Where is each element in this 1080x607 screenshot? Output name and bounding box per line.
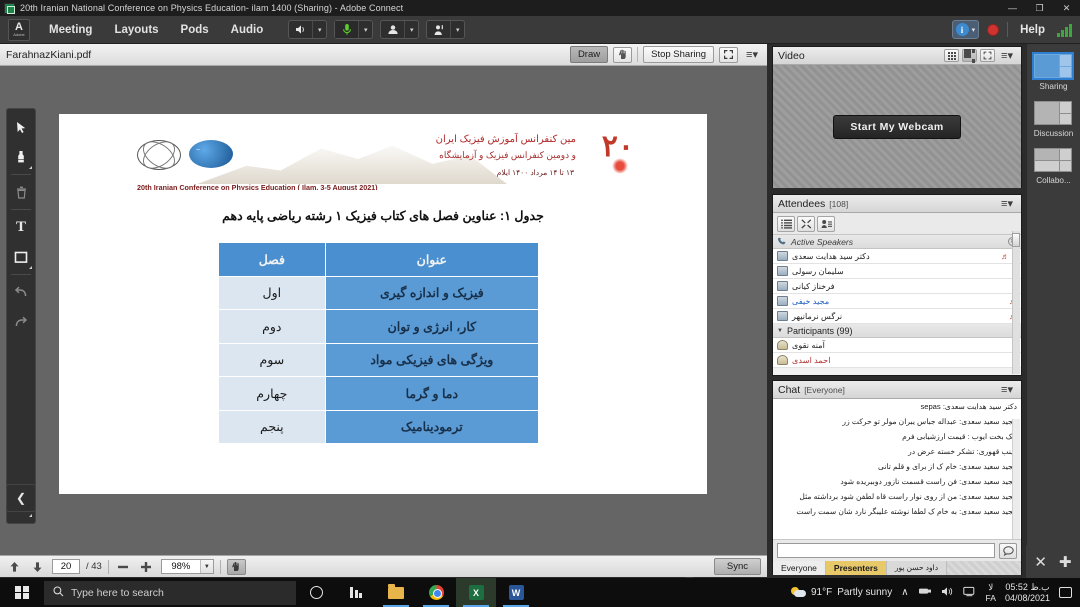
drawing-toolbar: T [6,108,36,524]
chat-message: نیک بخت ایوب : قیمت ارزشیابی فرم [777,432,1017,441]
participants-caret-icon[interactable]: ▼ [777,328,783,334]
chat-scrollbar[interactable] [1012,419,1020,539]
adobe-logo-word: Adobe [13,32,25,37]
language-line-1: لا [986,582,996,593]
video-grid-view-icon[interactable] [944,49,959,62]
cell-chapter: دوم [219,310,326,344]
chat-message: مجید سعید سعدی: من از روی نوار راست قاه … [777,492,1017,501]
record-icon[interactable] [987,24,999,36]
attendees-pod-menu-icon[interactable]: ≡▾ [998,197,1016,210]
start-my-webcam-button[interactable]: Start My Webcam [833,115,960,139]
list-view-icon[interactable] [777,216,795,232]
volume-icon[interactable] [941,586,954,600]
toolbar-divider [11,209,31,210]
stop-sharing-button[interactable]: Stop Sharing [643,46,714,63]
shape-tool-icon[interactable] [7,242,35,272]
minimize-button[interactable]: — [999,0,1026,16]
windows-logo-icon [15,586,29,600]
table-header-row: عنوان فصل [219,243,539,277]
clock[interactable]: 05:52 ب.ظ 04/08/2021 [1005,582,1050,604]
raise-hand-control-group[interactable]: ▾ [426,20,465,39]
meeting-caret-icon[interactable]: ▾ [972,26,976,34]
zoom-out-button[interactable] [115,559,132,575]
speaker-icon[interactable] [289,21,312,38]
chapter-table: عنوان فصل فیزیک و اندازه گیری اول کار، ا… [218,242,539,444]
speaker-caret-icon[interactable]: ▾ [312,21,326,38]
breakout-rooms-icon[interactable] [797,216,815,232]
attendee-info-icon[interactable] [817,216,835,232]
active-speakers-group-header[interactable]: Active Speakers ✕ [773,235,1021,249]
attendee-status-icon [777,296,788,306]
video-pod-title: Video [778,50,805,62]
participants-group-header[interactable]: ▼ Participants (99) [773,324,1021,338]
word-glyph: W [509,585,524,600]
excel-icon[interactable]: X [456,578,496,607]
layout-item-discussion[interactable]: Discussion [1032,99,1076,138]
redo-tool-icon[interactable] [7,307,35,337]
zoom-in-button[interactable] [138,559,155,575]
pdfbar-divider [108,560,109,574]
banner-persian-line-1: مین کنفرانس آموزش فیزیک ایران [436,134,576,145]
shape-options-caret-icon[interactable] [29,266,32,269]
banner-burst-icon [612,158,628,174]
chat-pod: Chat [Everyone] ≡▾ دکتر سید هدایت سعدی: … [772,380,1022,575]
table-row: ویژگی های فیزیکی مواد سوم [219,343,539,377]
cell-chapter: پنجم [219,410,326,444]
banner-persian-line-2: و دومین کنفرانس فیزیک و آزمایشگاه [439,150,576,161]
word-icon[interactable]: W [496,578,536,607]
language-indicator[interactable]: لا FA [986,582,996,604]
chat-tab-bar: Everyone Presenters داود حسن پور [773,561,1021,575]
tab-everyone[interactable]: Everyone [773,561,826,575]
participants-label: Participants (99) [787,326,853,336]
attendees-count: [108] [829,199,848,209]
discussion-layout-thumbnail [1032,99,1074,127]
previous-page-button[interactable] [6,559,23,575]
search-icon [53,586,64,600]
chrome-icon[interactable] [416,578,456,607]
info-icon: i [956,23,969,36]
adobe-logo-letter: A [15,23,23,32]
banner-persian-date: ۱۳ تا ۱۴ مرداد ۱۴۰۰ ایلام [497,168,574,177]
layout-item-sharing[interactable]: Sharing [1032,52,1076,91]
attendees-pod-header: Attendees [108] ≡▾ [773,195,1021,213]
chat-scope-label: [Everyone] [804,385,845,395]
video-pod-header: Video ≡▾ [773,47,1021,65]
video-pod-menu-icon[interactable]: ≡▾ [998,49,1016,62]
table-row: کار، انرژی و توان دوم [219,310,539,344]
layout-rail-actions: ✕ ✚ [1026,545,1080,578]
table-row: فیزیک و اندازه گیری اول [219,276,539,310]
start-button[interactable] [0,578,44,607]
cell-title: ترمودینامیک [325,410,538,444]
tab-private-chat[interactable]: داود حسن پور [887,561,947,575]
video-filmstrip-view-icon[interactable] [962,49,977,62]
video-fullscreen-icon[interactable] [980,49,995,62]
chat-message: زینب قهوری: تشکر خسته عرض در [777,447,1017,456]
attendees-scrollbar[interactable] [1012,231,1020,374]
header-chapter: فصل [219,243,326,277]
chat-pod-title: Chat [778,384,800,396]
toolbar-divider [11,274,31,275]
sharing-layout-thumbnail [1032,52,1074,80]
layout-item-collaboration[interactable]: Collabo... [1032,146,1076,185]
table-row: ترمودینامیک پنجم [219,410,539,444]
page-number-input[interactable]: 20 [52,559,80,574]
send-message-icon[interactable] [999,543,1017,559]
maximize-button[interactable]: ❐ [1026,0,1053,16]
table-row: دما و گرما چهارم [219,377,539,411]
attendee-status-icon [777,311,788,321]
next-page-button[interactable] [29,559,46,575]
menubar-divider [1007,22,1008,37]
chat-message: مجید سعید سعدی: فن راست قسمت نازور دوببر… [777,477,1017,486]
zoom-caret-icon[interactable]: ▼ [200,560,213,573]
weather-temperature: 91°F [811,587,832,598]
layout-label: Sharing [1032,82,1076,91]
table-caption: جدول ۱: عناوین فصل های کتاب فیزیک ۱ رشته… [59,208,707,223]
language-line-2: FA [986,593,996,604]
chat-message: مجید سعید سعدی: به خام ک لطفا نوشته علیب… [777,507,1017,516]
conference-banner: ~ مین کنفرانس آموزش فیزیک ایران و دومین … [137,132,632,190]
camera-icon[interactable] [381,21,404,38]
weather-widget[interactable]: 91°F Partly sunny [791,587,892,598]
pdf-navigation-bar: 20 / 43 98% ▼ Sync [0,555,767,577]
clock-date: 04/08/2021 [1005,593,1050,604]
active-speakers-phone-icon [777,233,787,251]
microphone-icon[interactable] [335,21,358,38]
collapse-toolbar-button[interactable]: ❮ [6,484,36,512]
chat-message-list[interactable]: دکتر سید هدایت سعدی: sepas مجید سعید سعد… [773,399,1021,539]
search-input[interactable]: Type here to search [44,581,296,605]
list-item[interactable]: دکتر سید هدایت سعدی ♬ ● [773,249,1021,264]
cell-title: دما و گرما [325,377,538,411]
chat-pod-menu-icon[interactable]: ≡▾ [998,383,1016,396]
speaker-control-group[interactable]: ▾ [288,20,327,39]
marker-options-caret-icon[interactable] [29,166,32,169]
pointer-tool-icon[interactable] [7,112,35,142]
cell-chapter: چهارم [219,377,326,411]
attendee-name: دکتر سید هدایت سعدی [792,251,870,261]
toolbar-spacer [7,337,35,485]
hand-tool-button[interactable] [227,559,246,575]
microphone-caret-icon[interactable]: ▾ [358,21,372,38]
cell-chapter: سوم [219,343,326,377]
share-tools-divider [637,47,638,62]
clock-time: 05:52 ب.ظ [1005,582,1050,593]
share-pod-body: ~ مین کنفرانس آموزش فیزیک ایران و دومین … [0,66,767,555]
app-icon [4,3,15,14]
meeting-info-button[interactable]: i ▾ [952,20,980,39]
file-explorer-icon[interactable] [376,578,416,607]
menu-audio[interactable]: Audio [220,16,275,44]
attendee-name: نرگس نرمانیهر [792,311,842,321]
attendee-name: احمد اسدی [792,355,830,365]
menu-meeting[interactable]: Meeting [38,16,103,44]
chat-message: دکتر سید هدایت سعدی: sepas [777,402,1017,411]
list-item[interactable]: نرگس نرمانیهر ♬ [773,309,1021,324]
layout-label: Collabo... [1032,176,1076,185]
add-layout-icon[interactable]: ✚ [1059,553,1072,571]
attendee-name: آمنه نقوی [792,340,825,350]
share-pod-menu-icon[interactable]: ≡▾ [743,48,761,61]
university-logo-icon: ~ [189,140,233,168]
chat-message: مجید سعید سعدی: عبداله جباس یبران مولر ت… [777,417,1017,426]
pointer-button[interactable] [613,47,632,63]
cell-chapter: اول [219,276,326,310]
excel-glyph: X [469,585,484,600]
microphone-muted-icon[interactable]: ♬ [1001,252,1009,261]
zoom-level-value: 98% [162,561,200,572]
banner-english-line: 20th Iranian Conference on Physics Educa… [137,183,378,190]
microphone-control-group[interactable]: ▾ [334,20,373,39]
fullscreen-icon[interactable] [719,47,738,63]
window-title: 20th Iranian National Conference on Phys… [20,3,403,13]
undo-tool-icon[interactable] [7,277,35,307]
delete-tool-icon[interactable] [7,177,35,207]
adobe-logo-icon: A Adobe [8,19,30,41]
participant-icon [777,340,788,350]
close-button[interactable]: ✕ [1053,0,1080,16]
search-placeholder: Type here to search [71,587,164,599]
tab-presenters[interactable]: Presenters [826,561,887,575]
attendees-pod: Attendees [108] ≡▾ Active Speakers ✕ [772,194,1022,376]
attendee-name: فرخناز کیانی [792,281,835,291]
list-item[interactable]: سلیمان رسولی [773,264,1021,279]
camera-control-group[interactable]: ▾ [380,20,419,39]
list-item[interactable]: فرخناز کیانی [773,279,1021,294]
zoom-level-select[interactable]: 98% ▼ [161,559,214,574]
close-layout-icon[interactable]: ✕ [1034,553,1047,571]
sync-button[interactable]: Sync [714,558,761,575]
windows-taskbar: Type here to search X W 91°F Partly sunn… [0,578,1080,607]
layers-options-caret-icon[interactable] [29,514,32,517]
usb-icon[interactable] [918,586,932,599]
partly-sunny-icon [791,587,806,598]
menu-layouts[interactable]: Layouts [103,16,169,44]
camera-caret-icon[interactable]: ▾ [404,21,418,38]
raise-hand-caret-icon[interactable]: ▾ [450,21,464,38]
video-pod-body: Start My Webcam [773,65,1021,188]
help-link[interactable]: Help [1016,24,1049,36]
attendee-name: مجید خیفی [792,296,829,306]
adobe-connect-menubar: A Adobe Meeting Layouts Pods Audio ▾ ▾ [0,16,1080,44]
attendee-status-icon [777,251,788,261]
chat-message: مجید سعید سعدی: خام ک از برای و قلم تانی [777,462,1017,471]
list-item[interactable]: مجید خیفی ♬ [773,294,1021,309]
raise-hand-icon[interactable] [427,21,450,38]
header-title: عنوان [325,243,538,277]
tray-expand-icon[interactable]: ∧ [901,587,908,598]
video-pod: Video ≡▾ Start My Webcam [772,46,1022,188]
attendees-toolbar [773,213,1021,235]
network-icon[interactable] [963,586,977,600]
toolbar-divider [11,174,31,175]
attendees-pod-title: Attendees [778,198,825,210]
attendees-scrollbar-thumb[interactable] [1012,233,1020,247]
active-speakers-label: Active Speakers [791,237,853,247]
shared-document-name: FarahnazKiani.pdf [6,49,91,61]
share-pod-header: FarahnazKiani.pdf Draw Stop Sharing ≡▾ [0,44,767,66]
marker-tool-icon[interactable] [7,142,35,172]
layout-rail: Sharing Discussion Collabo... [1026,44,1080,577]
attendee-status-icon [777,281,788,291]
physics-society-logo-icon [137,140,181,170]
list-item[interactable]: احمد اسدی [773,353,1021,368]
window-titlebar: 20th Iranian National Conference on Phys… [0,0,1080,16]
task-view-icon[interactable] [336,578,376,607]
cell-title: کار، انرژی و توان [325,310,538,344]
cell-title: فیزیک و اندازه گیری [325,276,538,310]
notifications-icon[interactable] [1059,587,1072,598]
attendee-status-icon [777,266,788,276]
chat-pod-header: Chat [Everyone] ≡▾ [773,381,1021,399]
cortana-icon[interactable] [296,578,336,607]
draw-button[interactable]: Draw [570,46,608,63]
pdf-page: ~ مین کنفرانس آموزش فیزیک ایران و دومین … [59,114,707,494]
page-total-label: / 43 [86,561,102,572]
cell-title: ویژگی های فیزیکی مواد [325,343,538,377]
connection-status-icon [1057,23,1074,37]
collaboration-layout-thumbnail [1032,146,1074,174]
text-tool-icon[interactable]: T [7,212,35,242]
participant-icon [777,355,788,365]
chat-input-row [773,539,1021,561]
attendee-name: سلیمان رسولی [792,266,844,276]
weather-condition: Partly sunny [837,587,892,598]
list-item[interactable]: آمنه نقوی [773,338,1021,353]
pdfbar-divider [220,560,221,574]
chat-input[interactable] [777,543,995,558]
layout-label: Discussion [1032,129,1076,138]
menu-pods[interactable]: Pods [170,16,220,44]
